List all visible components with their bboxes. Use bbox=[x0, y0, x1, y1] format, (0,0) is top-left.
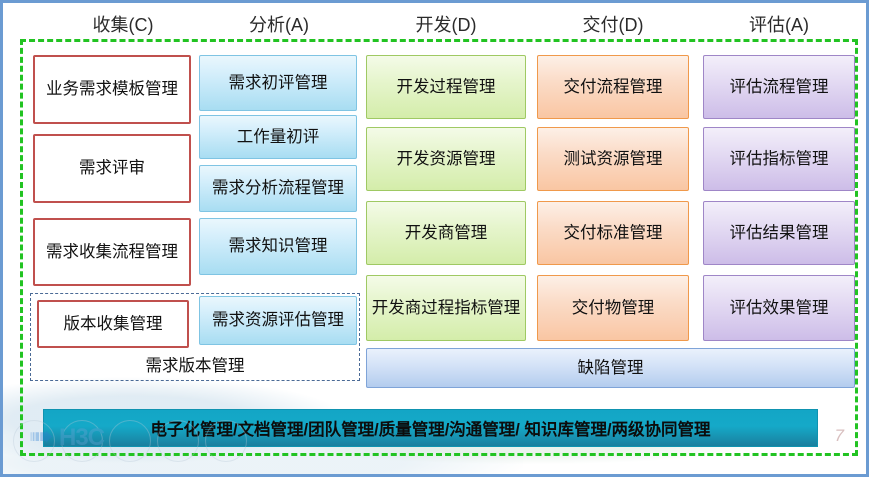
column-header-analyze: 分析(A) bbox=[199, 11, 359, 37]
column-headers: 收集(C) 分析(A) 开发(D) 交付(D) 评估(A) bbox=[3, 11, 869, 39]
foundation-banner: 电子化管理/文档管理/团队管理/质量管理/沟通管理/ 知识库管理/两级协同管理 bbox=[43, 409, 818, 447]
column-header-deliver: 交付(D) bbox=[537, 11, 689, 37]
column-header-collect: 收集(C) bbox=[43, 11, 203, 37]
column-header-evaluate: 评估(A) bbox=[703, 11, 855, 37]
page-number: 7 bbox=[835, 426, 844, 446]
process-framework-container bbox=[20, 39, 858, 456]
column-header-develop: 开发(D) bbox=[366, 11, 526, 37]
slide-canvas: 收集(C) 分析(A) 开发(D) 交付(D) 评估(A) 业务需求模板管理 需… bbox=[0, 0, 869, 477]
